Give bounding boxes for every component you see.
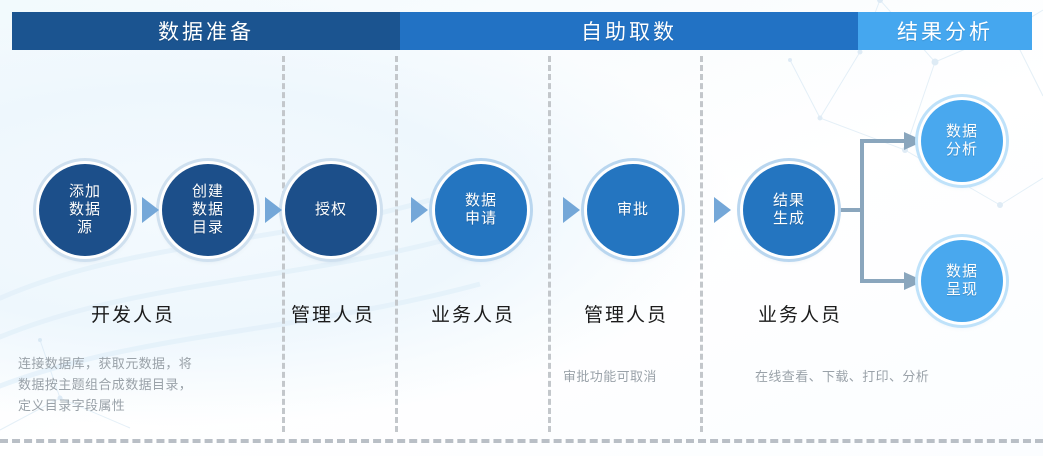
node-label: 添加 数据 源	[69, 183, 101, 236]
node-body: 数据 申请	[435, 164, 527, 256]
diagram-canvas: 数据准备 自助取数 结果分析 添加 数据 源 创建 数据 目录 授权	[0, 0, 1043, 456]
role-label-business-2: 业务人员	[715, 300, 885, 327]
column-divider-1	[282, 56, 285, 432]
phase-band-result-analysis[interactable]: 结果分析	[858, 12, 1032, 50]
flow-arrow-2	[265, 197, 282, 223]
phase-band-label: 自助取数	[581, 16, 677, 46]
node-add-datasource[interactable]: 添加 数据 源	[39, 164, 131, 256]
node-label: 授权	[315, 201, 347, 219]
role-label-developer: 开发人员	[48, 300, 218, 327]
node-body: 审批	[587, 164, 679, 256]
node-label: 创建 数据 目录	[192, 183, 224, 236]
role-text: 开发人员	[91, 305, 175, 326]
node-data-analysis[interactable]: 数据 分析	[921, 100, 1003, 182]
node-label: 数据 分析	[946, 123, 978, 158]
node-label: 审批	[617, 201, 649, 219]
role-text: 管理人员	[291, 305, 375, 326]
role-text: 业务人员	[431, 305, 515, 326]
description-approval: 审批功能可取消	[563, 366, 703, 387]
role-text: 管理人员	[584, 305, 668, 326]
node-body: 创建 数据 目录	[162, 164, 254, 256]
phase-band-data-prep[interactable]: 数据准备	[12, 12, 400, 50]
role-label-admin-2: 管理人员	[541, 300, 711, 327]
description-data-prep: 连接数据库，获取元数据，将 数据按主题组合成数据目录， 定义目录字段属性	[18, 353, 280, 416]
role-text: 业务人员	[758, 305, 842, 326]
phase-band-self-serve[interactable]: 自助取数	[400, 12, 858, 50]
node-body: 数据 分析	[921, 100, 1003, 182]
node-result-generation[interactable]: 结果 生成	[743, 164, 835, 256]
phase-band-label: 数据准备	[158, 16, 254, 46]
node-body: 授权	[285, 164, 377, 256]
phase-band-label: 结果分析	[897, 16, 993, 46]
node-data-request[interactable]: 数据 申请	[435, 164, 527, 256]
node-body: 添加 数据 源	[39, 164, 131, 256]
flow-arrow-3	[411, 197, 428, 223]
column-divider-2	[395, 56, 398, 432]
node-body: 结果 生成	[743, 164, 835, 256]
flow-arrow-1	[142, 197, 159, 223]
bottom-dashed-rule	[0, 439, 1043, 443]
node-body: 数据 呈现	[921, 240, 1003, 322]
role-label-business-1: 业务人员	[388, 300, 558, 327]
node-label: 结果 生成	[773, 192, 805, 227]
node-create-catalog[interactable]: 创建 数据 目录	[162, 164, 254, 256]
node-label: 数据 申请	[465, 192, 497, 227]
column-divider-3	[548, 56, 551, 432]
node-authorize[interactable]: 授权	[285, 164, 377, 256]
node-data-presentation[interactable]: 数据 呈现	[921, 240, 1003, 322]
node-label: 数据 呈现	[946, 263, 978, 298]
description-result-analysis: 在线查看、下载、打印、分析	[755, 366, 985, 387]
flow-arrow-4	[563, 197, 580, 223]
node-approval[interactable]: 审批	[587, 164, 679, 256]
flow-arrow-5	[714, 197, 731, 223]
